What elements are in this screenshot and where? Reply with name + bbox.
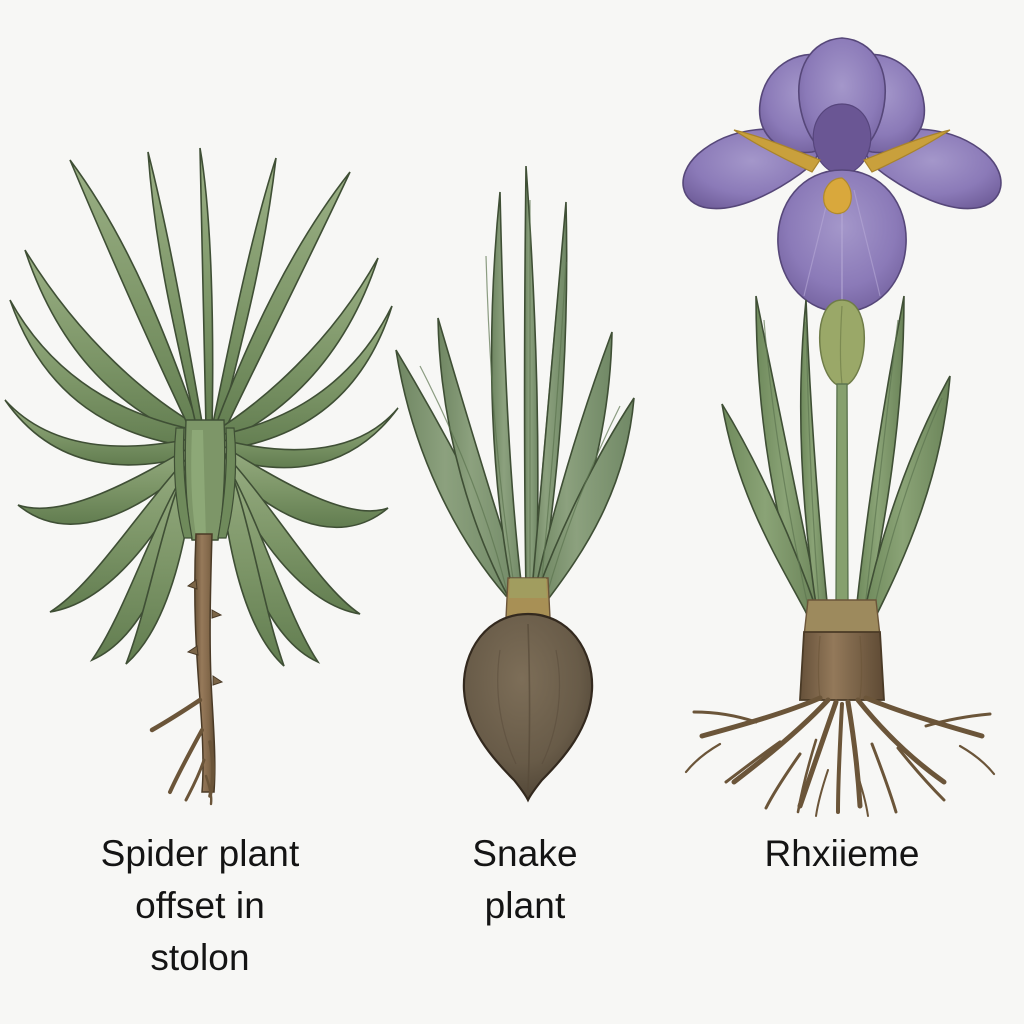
iris-spathe [820,300,865,386]
panel-snake-plant: Snake plant [380,0,670,1024]
caption-spider-plant: Spider plant offset in stolon [0,828,400,984]
iris-flower-stalk [836,384,848,606]
panel-rhizome: Rhxiieme [660,0,1024,1024]
iris-flower [683,38,1001,312]
snake-plant-illustration [380,0,670,820]
rhizome-root-system [686,600,994,816]
rhizome-iris-illustration [660,0,1024,820]
botanical-figure: Spider plant offset in stolon [0,0,1024,1024]
panel-spider-plant: Spider plant offset in stolon [0,0,400,1024]
caption-snake-plant: Snake plant [380,828,670,932]
caption-rhizome: Rhxiieme [660,828,1024,880]
spider-plant-illustration [0,0,400,820]
snake-plant-leaves [396,166,634,602]
snake-plant-bulb [464,578,592,800]
